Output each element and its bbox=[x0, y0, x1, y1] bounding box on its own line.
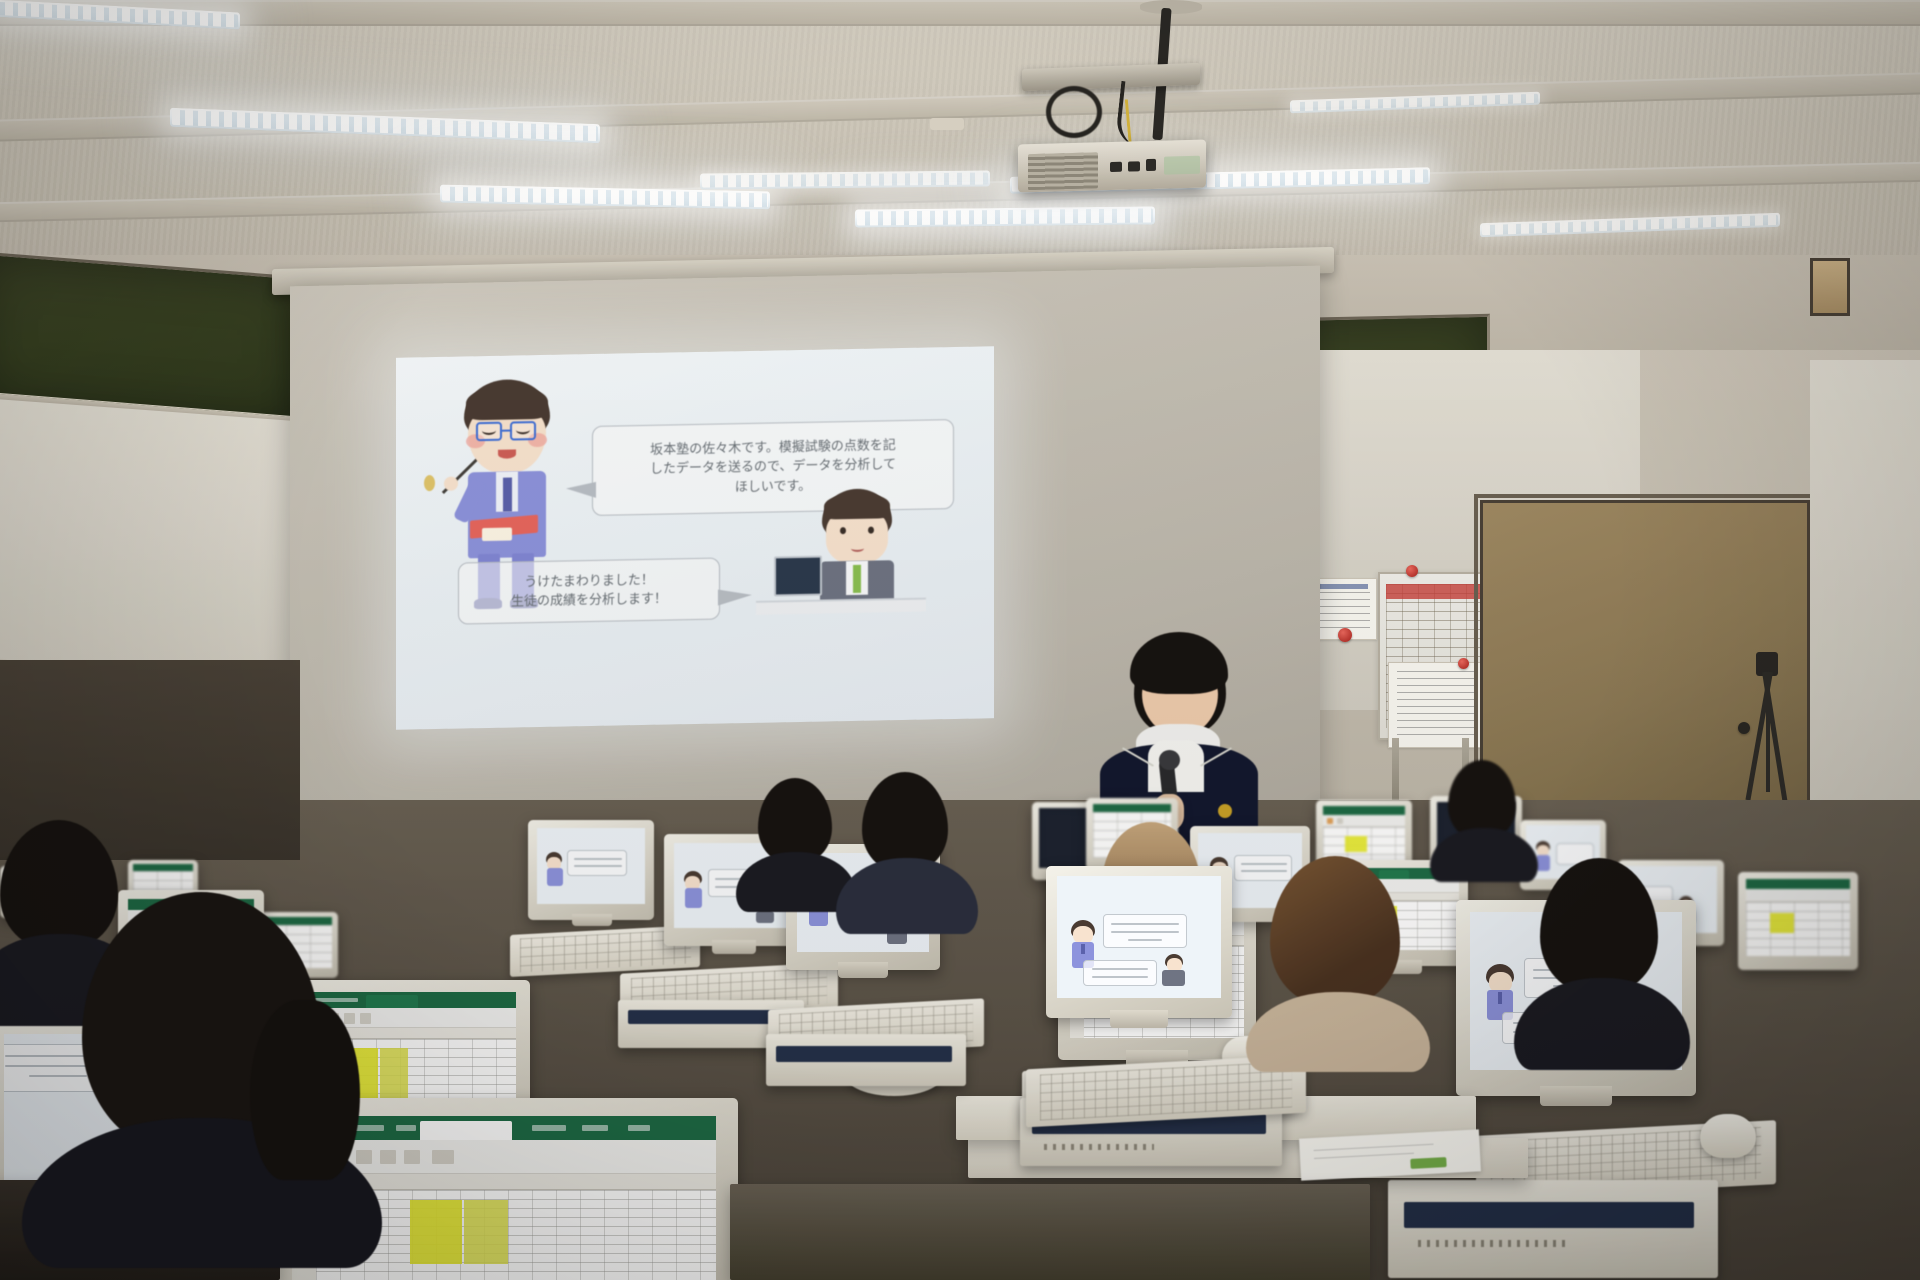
slide-student-character bbox=[800, 488, 920, 622]
projector-label bbox=[1164, 156, 1200, 175]
projector-port-2 bbox=[1128, 161, 1140, 171]
presenter-badge bbox=[1218, 804, 1232, 818]
spreadsheet-title-bar bbox=[304, 992, 516, 1008]
ribbon-icon-font[interactable] bbox=[356, 1150, 372, 1164]
slide-bubble-student: うけたまわりました！ 生徒の成績を分析します！ bbox=[458, 558, 720, 625]
slide-desk bbox=[756, 598, 926, 615]
title-text-3 bbox=[532, 1125, 566, 1131]
pc-front-panel bbox=[776, 1046, 952, 1062]
spreadsheet-title-bar bbox=[133, 864, 193, 871]
teacher-book-pages bbox=[482, 528, 512, 542]
workstation-monitor-center bbox=[1046, 866, 1232, 1018]
teacher-necktie bbox=[503, 478, 512, 512]
projector-port-1 bbox=[1110, 162, 1122, 172]
mirror-student-body bbox=[1162, 970, 1185, 986]
ceiling-light-4 bbox=[700, 170, 990, 189]
ceiling-light-5 bbox=[855, 206, 1155, 227]
pc-vent bbox=[1044, 1144, 1154, 1150]
mirror-line-1 bbox=[1111, 923, 1179, 925]
mirror-bubble bbox=[567, 850, 627, 876]
teacher-glasses-bridge bbox=[501, 430, 511, 432]
spreadsheet-ribbon bbox=[1746, 889, 1850, 902]
pc-vent bbox=[1418, 1240, 1568, 1247]
whiteboard-table-header bbox=[1386, 584, 1479, 599]
ribbon-icon-align[interactable] bbox=[380, 1150, 396, 1164]
monitor-screen bbox=[1057, 876, 1221, 998]
teacher-hand-left bbox=[444, 477, 458, 491]
mouse-right bbox=[1700, 1114, 1756, 1158]
mirror-line-3 bbox=[1128, 939, 1162, 941]
title-tab bbox=[1379, 870, 1409, 879]
left-lower-wall bbox=[0, 398, 310, 682]
monitor-stand bbox=[838, 962, 888, 978]
bubble-teacher-tail bbox=[566, 482, 596, 499]
highlighted-cells bbox=[1770, 913, 1794, 933]
whiteboard-notice-2 bbox=[1388, 662, 1484, 748]
pc-tower-left-3 bbox=[766, 1034, 966, 1086]
monitor-stand bbox=[712, 940, 756, 954]
monitor-stand bbox=[1110, 1010, 1168, 1028]
title-text-4 bbox=[582, 1125, 608, 1131]
monitor-screen bbox=[537, 828, 645, 904]
slide-mirror-view bbox=[537, 828, 645, 904]
tripod-knob bbox=[1738, 722, 1750, 734]
mirror-line-4 bbox=[1092, 968, 1148, 970]
mirror-line-2 bbox=[574, 865, 622, 867]
keyboard-keys bbox=[1040, 1061, 1292, 1121]
mirror-line-3 bbox=[29, 1075, 87, 1077]
notice-2-lines bbox=[1397, 671, 1476, 738]
title-text-5 bbox=[628, 1125, 650, 1131]
mirror-teacher-body bbox=[547, 868, 563, 886]
ceiling-beam-1 bbox=[0, 0, 1920, 26]
mirror-bubble-student bbox=[1083, 960, 1157, 986]
microphone-head bbox=[1159, 750, 1180, 770]
mirror-line-2 bbox=[1111, 931, 1179, 933]
magnet-red-1 bbox=[1338, 628, 1352, 642]
classroom-photo-scene: 12 1 2 3 4 5 6 7 8 9 10 11 bbox=[0, 0, 1920, 1280]
bubble-student-tail bbox=[718, 589, 752, 606]
projected-slide: 坂本塾の佐々木です。模擬試験の点数を記 したデータを送るので、データを分析して … bbox=[396, 346, 994, 729]
slide-laptop-screen bbox=[774, 556, 822, 597]
title-tab-active[interactable] bbox=[420, 1121, 512, 1140]
paper-green-mark bbox=[1410, 1157, 1446, 1169]
monitor-stand bbox=[572, 914, 612, 926]
ribbon-icon-number[interactable] bbox=[404, 1150, 420, 1164]
mirror-bubble bbox=[1234, 855, 1292, 881]
spreadsheet-title-bar bbox=[1746, 879, 1850, 889]
notice-lines bbox=[1312, 592, 1371, 628]
mirror-teacher-body bbox=[685, 888, 702, 908]
projector-vent bbox=[1028, 152, 1098, 190]
projector-port-3 bbox=[1146, 159, 1156, 171]
mirror-teacher-body bbox=[1536, 855, 1550, 871]
ribbon-icon-styles[interactable] bbox=[432, 1150, 454, 1164]
desk-foreground-center bbox=[730, 1184, 1370, 1280]
teacher-pointer-grip bbox=[424, 475, 435, 491]
mirror-line-1 bbox=[1241, 863, 1287, 865]
ceiling-projector bbox=[1018, 140, 1206, 193]
ceiling-smoke-detector bbox=[930, 118, 964, 130]
mirror-student-body bbox=[756, 911, 774, 923]
bubble-student-line-2: 生徒の成績を分析します！ bbox=[511, 590, 667, 612]
title-text-2 bbox=[396, 1125, 416, 1131]
highlighted-cells-2[interactable] bbox=[464, 1200, 508, 1264]
spreadsheet-title-bar bbox=[1323, 806, 1405, 815]
slide-mirror-view bbox=[1057, 876, 1221, 998]
paper-line-2 bbox=[1314, 1153, 1414, 1159]
spreadsheet-grid bbox=[1746, 902, 1850, 956]
magnet-red-2 bbox=[1406, 565, 1418, 577]
teacher-hair-front bbox=[466, 385, 548, 421]
workstation-monitor-far-5 bbox=[1738, 872, 1858, 970]
slide-student-hair-front bbox=[824, 492, 890, 519]
ribbon-icon-1 bbox=[1327, 818, 1333, 824]
mirror-line-5 bbox=[1092, 976, 1148, 978]
pc-tower-right bbox=[1388, 1180, 1718, 1278]
slide-student-tie bbox=[853, 565, 861, 593]
spreadsheet-title-bar bbox=[1093, 804, 1171, 812]
magnet-red-3 bbox=[1458, 658, 1469, 669]
spreadsheet-ribbon bbox=[1323, 815, 1405, 827]
notice-title-bar bbox=[1314, 584, 1367, 589]
paper-line-1 bbox=[1314, 1144, 1434, 1151]
far-right-wall bbox=[1810, 360, 1920, 810]
mirror-bubble-teacher bbox=[1103, 914, 1187, 948]
ribbon-icon-4 bbox=[360, 1013, 371, 1024]
ribbon-icon-2 bbox=[1337, 818, 1343, 824]
pc-front-panel bbox=[1404, 1202, 1694, 1228]
highlighted-cells-1[interactable] bbox=[410, 1200, 462, 1264]
monitor-screen bbox=[1746, 879, 1850, 956]
title-tab bbox=[366, 995, 418, 1008]
monitor-stand bbox=[1540, 1086, 1612, 1106]
ribbon-icon-3 bbox=[344, 1013, 355, 1024]
slide-content: 坂本塾の佐々木です。模擬試験の点数を記 したデータを送るので、データを分析して … bbox=[396, 346, 994, 729]
highlighted-cells bbox=[1345, 836, 1367, 852]
projector-cable-coil bbox=[1046, 86, 1102, 138]
student-head bbox=[250, 1000, 360, 1180]
presenter-hair bbox=[1130, 632, 1228, 694]
workstation-monitor-left-1 bbox=[528, 820, 654, 920]
spreadsheet-view bbox=[1746, 879, 1850, 956]
mirror-line-1 bbox=[574, 858, 622, 860]
mirror-teacher-tie bbox=[1498, 992, 1502, 1004]
mirror-line-2 bbox=[1241, 870, 1287, 872]
tripod-leg-3 bbox=[1766, 672, 1770, 792]
mirror-teacher-tie bbox=[1081, 944, 1085, 954]
wall-vent bbox=[1810, 258, 1850, 316]
